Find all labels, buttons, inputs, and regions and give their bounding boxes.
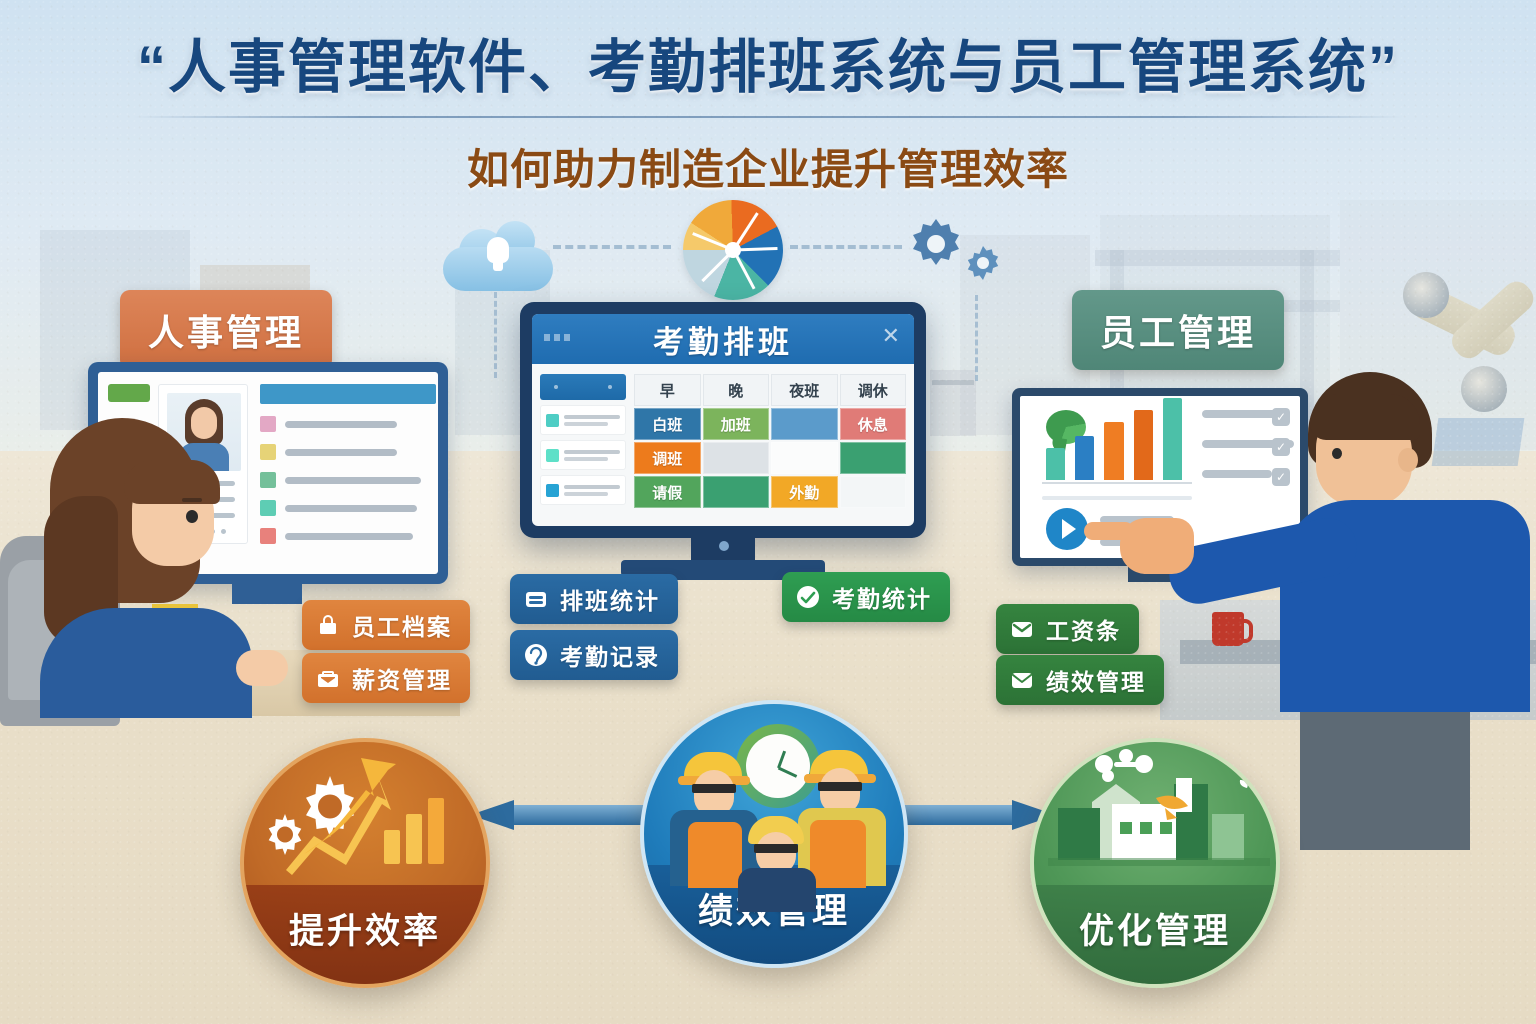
grid-cell[interactable]: 请假 — [634, 476, 701, 508]
header: “人事管理软件、考勤排班系统与员工管理系统” 如何助力制造企业提升管理效率 — [0, 20, 1536, 197]
factory-icon — [1034, 742, 1276, 902]
placeholder-bar — [285, 477, 421, 484]
connector-line-left — [553, 245, 671, 249]
app-sidebar — [540, 374, 626, 508]
list-item[interactable] — [260, 528, 413, 544]
pie-chart-icon — [683, 200, 783, 300]
close-icon[interactable]: ✕ — [882, 325, 900, 347]
color-chip — [260, 444, 276, 460]
window-title-bar: 考勤排班 ✕ — [532, 314, 914, 364]
bar — [1134, 410, 1153, 480]
mail-icon — [1008, 666, 1036, 694]
chart-baseline — [1042, 496, 1192, 500]
sidebar-item[interactable] — [540, 475, 626, 505]
color-chip — [260, 500, 276, 516]
bar-chart — [1046, 396, 1182, 480]
envelope-icon — [1008, 615, 1036, 643]
color-chip — [260, 528, 276, 544]
color-chip — [546, 449, 559, 462]
connector-line-down-left — [494, 292, 497, 378]
gears-growth-icon — [244, 742, 486, 902]
play-button[interactable] — [1046, 508, 1088, 550]
grid-cell[interactable] — [840, 476, 907, 508]
grid-cell[interactable]: 加班 — [703, 408, 770, 440]
arrow-left — [470, 800, 660, 830]
grid-cell[interactable] — [703, 476, 770, 508]
sidebar-item[interactable] — [540, 440, 626, 470]
attendance-scheduling-app: 考勤排班 ✕ 早 晚 — [532, 314, 914, 526]
outcome-optimize-management[interactable]: 优化管理 — [1030, 738, 1280, 988]
list-item[interactable] — [260, 444, 397, 460]
grid-cell[interactable] — [771, 408, 838, 440]
top-icon-row — [0, 195, 1536, 305]
status-chip — [108, 384, 150, 402]
page-subtitle: 如何助力制造企业提升管理效率 — [0, 136, 1536, 197]
tag-label: 排班统计 — [560, 582, 660, 616]
tag-label: 考勤记录 — [560, 638, 660, 672]
center-monitor: 考勤排班 ✕ 早 晚 — [520, 302, 926, 538]
sidebar-item[interactable] — [540, 405, 626, 435]
tag-label: 员工档案 — [352, 608, 452, 642]
color-chip — [260, 416, 276, 432]
chart-axis — [1042, 482, 1192, 484]
grid-header-cell: 调休 — [840, 374, 907, 406]
hr-staff-person — [40, 418, 260, 708]
arrow-right — [886, 800, 1056, 830]
worker-lower-body — [1300, 690, 1470, 850]
grid-cell[interactable] — [771, 442, 838, 474]
tag-shift-statistics[interactable]: 排班统计 — [510, 574, 678, 624]
window-title: 考勤排班 — [653, 317, 793, 362]
outcome-improve-efficiency[interactable]: 提升效率 — [240, 738, 490, 988]
list-item[interactable] — [260, 500, 417, 516]
tag-employee-records[interactable]: 员工档案 — [302, 600, 470, 650]
grid-cell[interactable]: 外勤 — [771, 476, 838, 508]
list-item[interactable] — [260, 416, 397, 432]
gear-icon — [905, 213, 967, 275]
tag-performance-management[interactable]: 绩效管理 — [996, 655, 1164, 705]
tag-label: 工资条 — [1046, 612, 1121, 646]
bar — [1163, 398, 1182, 480]
title-divider — [133, 116, 1403, 118]
color-chip — [546, 484, 559, 497]
badge-hr-management[interactable]: 人事管理 — [120, 290, 332, 370]
placeholder-bar — [1202, 470, 1272, 478]
tag-payroll-management[interactable]: 薪资管理 — [302, 653, 470, 703]
placeholder-bar — [285, 533, 413, 540]
list-item[interactable] — [260, 472, 421, 488]
grid-header-cell: 晚 — [703, 374, 770, 406]
grid-cell[interactable] — [703, 442, 770, 474]
fingerprint-icon — [522, 641, 550, 669]
bar — [1075, 436, 1094, 480]
factory-worker-person — [1280, 372, 1536, 712]
placeholder-bar — [285, 421, 397, 428]
badge-employee-management[interactable]: 员工管理 — [1072, 290, 1284, 370]
workers-clock-icon — [644, 704, 904, 876]
grid-header-cell: 夜班 — [771, 374, 838, 406]
bar — [1104, 422, 1123, 480]
outcome-performance-management[interactable]: 绩效管理 — [640, 700, 908, 968]
schedule-grid: 早 晚 夜班 调休 白班 加班 休息 调班 请假 外勤 — [634, 374, 906, 508]
grid-cell[interactable]: 白班 — [634, 408, 701, 440]
window-menu-dots — [544, 334, 570, 341]
tag-attendance-statistics[interactable]: 考勤统计 — [782, 572, 950, 622]
grid-cell[interactable]: 休息 — [840, 408, 907, 440]
panel-header — [260, 384, 436, 404]
grid-header-cell: 早 — [634, 374, 701, 406]
tag-label: 绩效管理 — [1046, 663, 1146, 697]
color-chip — [546, 414, 559, 427]
monitor-power-led — [719, 541, 729, 551]
tag-label: 薪资管理 — [352, 661, 452, 695]
page-title: “人事管理软件、考勤排班系统与员工管理系统” — [0, 20, 1536, 104]
grid-cell[interactable] — [840, 442, 907, 474]
grid-cell[interactable]: 调班 — [634, 442, 701, 474]
lock-icon — [314, 611, 342, 639]
calendar-icon — [522, 585, 550, 613]
color-chip — [260, 472, 276, 488]
placeholder-bar — [285, 449, 397, 456]
briefcase-icon — [314, 664, 342, 692]
placeholder-bar — [285, 505, 417, 512]
tag-payslip[interactable]: 工资条 — [996, 604, 1139, 654]
bar — [1046, 448, 1065, 480]
sidebar-header — [540, 374, 626, 400]
tag-attendance-records[interactable]: 考勤记录 — [510, 630, 678, 680]
employee-detail-panel — [260, 384, 436, 544]
tag-label: 考勤统计 — [832, 580, 932, 614]
connector-line-right — [790, 245, 902, 249]
gear-small-icon — [963, 243, 1003, 283]
clock-check-icon — [794, 583, 822, 611]
connector-line-down-right — [975, 295, 978, 381]
clock-icon — [736, 724, 820, 808]
cloud-lightbulb-icon — [443, 221, 553, 291]
